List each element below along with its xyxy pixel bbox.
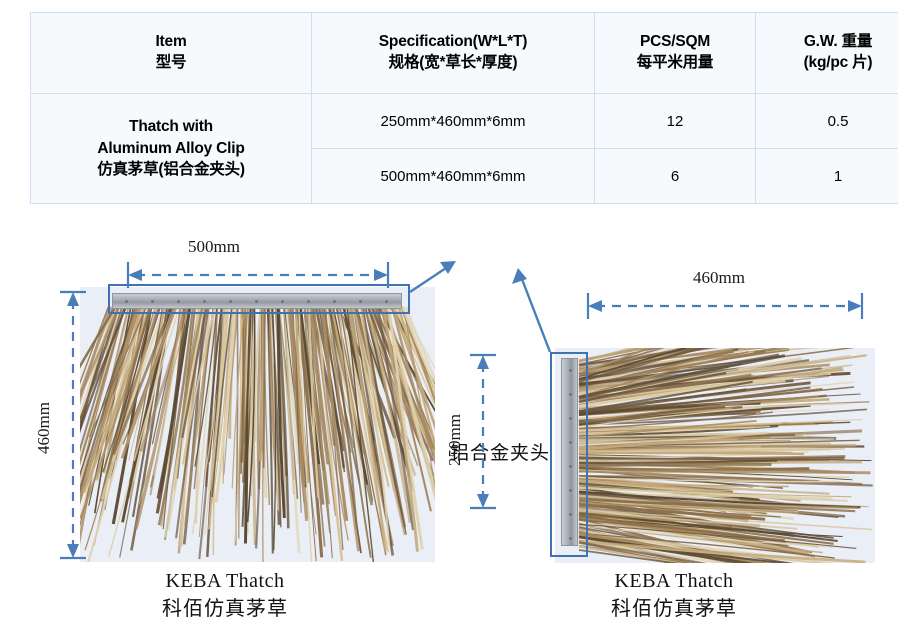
table-header: Item 型号 Specification(W*L*T) 规格(宽*草长*厚度)… [31, 13, 898, 94]
cell-pcs-sqm: 6 [595, 149, 756, 204]
caption-zh-front: 科佰仿真茅草 [0, 595, 450, 623]
figure-side-view: 460mm 250mm KEBA Thatch 科佰仿真茅草 [450, 200, 898, 631]
column-header-gross-weight-zh: (kg/pc 片) [762, 53, 898, 74]
cell-specification: 250mm*460mm*6mm [312, 94, 595, 149]
dimension-label-width-front: 500mm [188, 237, 240, 257]
thatch-strands-front [80, 287, 435, 562]
product-photo-front-view [80, 287, 435, 562]
dimension-label-height-side: 250mm [445, 410, 465, 470]
table-body: Thatch with Aluminum Alloy Clip 仿真茅草(铝合金… [31, 94, 898, 204]
figure-front-view: 500mm 460mm KEBA Thatch 科佰仿真茅草 [0, 200, 450, 631]
dimension-label-height-front: 460mm [34, 398, 54, 458]
table-row: Thatch with Aluminum Alloy Clip 仿真茅草(铝合金… [31, 94, 898, 149]
item-name-en-line2: Aluminum Alloy Clip [37, 138, 305, 160]
caption-en-front: KEBA Thatch [0, 568, 450, 595]
cell-pcs-sqm: 12 [595, 94, 756, 149]
clip-callout-box-side [550, 352, 588, 557]
column-header-pcs-sqm: PCS/SQM 每平米用量 [595, 13, 756, 94]
figure-caption-front: KEBA Thatch 科佰仿真茅草 [0, 568, 450, 623]
column-header-item: Item 型号 [31, 13, 312, 94]
caption-en-side: KEBA Thatch [450, 568, 898, 595]
figure-caption-side: KEBA Thatch 科佰仿真茅草 [450, 568, 898, 623]
clip-callout-box-front [108, 284, 410, 314]
column-header-item-zh: 型号 [37, 53, 305, 74]
dimension-label-width-side: 460mm [693, 268, 745, 288]
table-header-row: Item 型号 Specification(W*L*T) 规格(宽*草长*厚度)… [31, 13, 898, 94]
column-header-pcs-sqm-en: PCS/SQM [601, 32, 749, 53]
cell-specification: 500mm*460mm*6mm [312, 149, 595, 204]
column-header-specification-zh: 规格(宽*草长*厚度) [318, 53, 588, 74]
specification-table: Item 型号 Specification(W*L*T) 规格(宽*草长*厚度)… [30, 12, 898, 204]
item-name-zh: 仿真茅草(铝合金夹头) [37, 159, 305, 181]
cell-gross-weight: 1 [756, 149, 898, 204]
cell-item-name: Thatch with Aluminum Alloy Clip 仿真茅草(铝合金… [31, 94, 312, 204]
product-photo-side-view [555, 348, 875, 563]
column-header-gross-weight-en: G.W. 重量 [762, 32, 898, 53]
item-name-en-line1: Thatch with [37, 116, 305, 138]
column-header-item-en: Item [37, 32, 305, 53]
specification-table-container: Item 型号 Specification(W*L*T) 规格(宽*草长*厚度)… [30, 12, 868, 204]
column-header-specification-en: Specification(W*L*T) [318, 32, 588, 53]
column-header-specification: Specification(W*L*T) 规格(宽*草长*厚度) [312, 13, 595, 94]
column-header-gross-weight: G.W. 重量 (kg/pc 片) [756, 13, 898, 94]
caption-zh-side: 科佰仿真茅草 [450, 595, 898, 623]
product-figures: 铝合金夹头 [0, 200, 898, 631]
thatch-strands-side [555, 348, 875, 563]
cell-gross-weight: 0.5 [756, 94, 898, 149]
column-header-pcs-sqm-zh: 每平米用量 [601, 53, 749, 74]
